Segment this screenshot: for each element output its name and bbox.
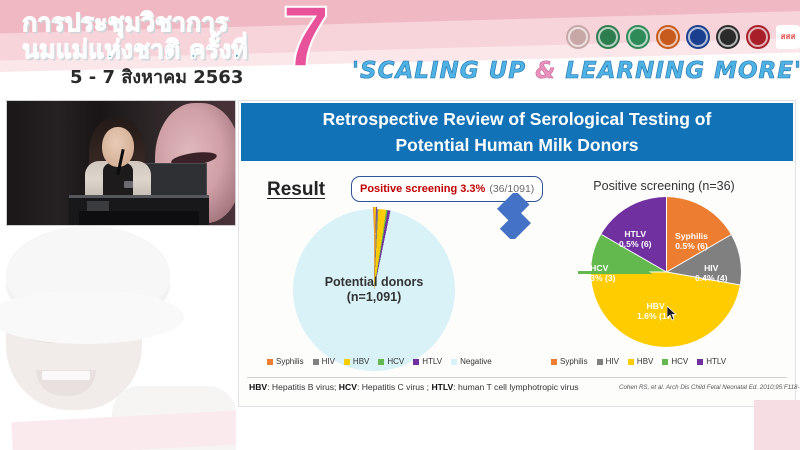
slice-label-hbv-name: HBV xyxy=(647,301,665,311)
footnote-hbv-key: HBV xyxy=(249,382,267,392)
tagline-ampersand: & xyxy=(535,58,556,84)
pink-foreground-bar xyxy=(11,410,236,450)
footnote-htlv-key: HTLV xyxy=(431,382,453,392)
footnote-divider xyxy=(247,377,787,378)
slide-title-line2: Potential Human Milk Donors xyxy=(323,132,712,158)
footnote-htlv-val: : human T cell lymphotropic virus xyxy=(453,382,578,392)
conference-edition-number: 7 xyxy=(282,0,330,80)
conference-tagline: 'SCALING UP & LEARNING MORE' xyxy=(352,58,800,84)
red-circle-logo xyxy=(746,25,770,49)
result-heading: Result xyxy=(267,179,325,201)
slice-label-hcv: HCV 0.3% (3) xyxy=(583,263,615,283)
slice-label-hiv-name: HIV xyxy=(704,263,718,273)
footnote-hcv-key: HCV xyxy=(339,382,357,392)
legend-label-htlv-right: HTLV xyxy=(706,357,726,366)
slice-label-htlv-name: HTLV xyxy=(624,229,646,239)
slice-label-hiv: HIV 0.4% (4) xyxy=(695,263,727,283)
green-pharmacy-logo xyxy=(626,25,650,49)
legend-label-negative: Negative xyxy=(460,357,492,366)
black-circle-logo xyxy=(716,25,740,49)
source-citation: Cohen RS, et al. Arch Dis Child Fetal Ne… xyxy=(619,384,800,391)
orange-crown-logo xyxy=(656,25,680,49)
legend-item-hcv: HCV xyxy=(378,357,404,366)
abbreviation-footnote: HBV: Hepatitis B virus; HCV: Hepatitis C… xyxy=(249,382,579,392)
sss-thaihealth-logo: สสส xyxy=(776,25,800,49)
slide-title-banner: Retrospective Review of Serological Test… xyxy=(241,103,793,161)
conference-date-thai: 5 - 7 สิงหาคม 2563 xyxy=(70,62,243,91)
child-teeth xyxy=(42,371,90,380)
background-child-photo xyxy=(0,218,236,450)
slice-label-syphilis-name: Syphilis xyxy=(675,231,708,241)
legend-label-hbv: HBV xyxy=(353,357,369,366)
slice-label-syphilis-value: 0.5% (6) xyxy=(675,241,707,251)
blue-down-right-arrow-icon xyxy=(491,193,537,239)
potential-donors-center-label: Potential donors (n=1,091) xyxy=(263,275,485,305)
slice-label-syphilis: Syphilis 0.5% (6) xyxy=(675,231,708,251)
legend-label-syphilis-right: Syphilis xyxy=(560,357,588,366)
speaker-badge xyxy=(124,181,133,188)
positive-screening-pie-chart: Syphilis 0.5% (6) HIV 0.4% (4) HBV 1.6% … xyxy=(569,197,769,363)
green-medical-logo xyxy=(596,25,620,49)
slice-label-hcv-value: 0.3% (3) xyxy=(583,273,615,283)
legend-item-syphilis: Syphilis xyxy=(267,357,304,366)
legend-label-hbv-right: HBV xyxy=(637,357,653,366)
legend-item-htlv: HTLV xyxy=(413,357,442,366)
legend-label-hiv-right: HIV xyxy=(606,357,619,366)
positive-slivers xyxy=(371,207,379,233)
positive-screening-legend: Syphilis HIV HBV HCV HTLV xyxy=(551,357,726,366)
legend-item-negative: Negative xyxy=(451,357,492,366)
legend-item-hbv: HBV xyxy=(344,357,369,366)
footnote-hcv-val: : Hepatitis C virus ; xyxy=(357,382,432,392)
bottom-right-pink-accent xyxy=(754,400,800,450)
positive-screening-pie-title: Positive screening (n=36) xyxy=(539,179,789,193)
legend-item-hbv-right: HBV xyxy=(628,357,653,366)
royal-emblem-logo xyxy=(566,25,590,49)
legend-item-htlv-right: HTLV xyxy=(697,357,726,366)
legend-item-syphilis-right: Syphilis xyxy=(551,357,588,366)
child-hat-brim xyxy=(0,290,184,344)
legend-label-hcv-right: HCV xyxy=(671,357,688,366)
callout-highlight-text: Positive screening 3.3% xyxy=(360,183,485,195)
presentation-slide: Retrospective Review of Serological Test… xyxy=(238,100,796,407)
mouse-cursor xyxy=(667,306,678,321)
slice-label-hcv-name: HCV xyxy=(590,263,608,273)
potential-donors-label-line1: Potential donors xyxy=(263,275,485,290)
footnote-hbv-val: : Hepatitis B virus; xyxy=(267,382,339,392)
slide-title-line1: Retrospective Review of Serological Test… xyxy=(323,106,712,132)
ministry-garuda-logo xyxy=(686,25,710,49)
legend-item-hiv-right: HIV xyxy=(597,357,619,366)
sponsor-logo-row: สสส xyxy=(566,20,794,54)
tagline-part1: 'SCALING UP xyxy=(352,58,535,84)
tagline-part2: LEARNING MORE' xyxy=(556,58,800,84)
potential-donors-legend: Syphilis HIV HBV HCV HTLV Negative xyxy=(267,357,492,366)
legend-item-hiv: HIV xyxy=(313,357,335,366)
legend-label-hcv: HCV xyxy=(387,357,404,366)
slice-label-htlv-value: 0.5% (6) xyxy=(619,239,651,249)
slide-screenshot: การประชุมวิชาการ นมแม่แห่งชาติ ครั้งที่ … xyxy=(0,0,800,450)
legend-label-htlv: HTLV xyxy=(422,357,442,366)
speaker-video-feed[interactable] xyxy=(6,100,236,226)
slice-label-htlv: HTLV 0.5% (6) xyxy=(619,229,651,249)
legend-label-syphilis: Syphilis xyxy=(276,357,304,366)
legend-item-hcv-right: HCV xyxy=(662,357,688,366)
potential-donors-label-line2: (n=1,091) xyxy=(263,290,485,305)
legend-label-hiv: HIV xyxy=(322,357,335,366)
conference-header-banner: การประชุมวิชาการ นมแม่แห่งชาติ ครั้งที่ … xyxy=(0,0,800,96)
slice-label-hiv-value: 0.4% (4) xyxy=(695,273,727,283)
